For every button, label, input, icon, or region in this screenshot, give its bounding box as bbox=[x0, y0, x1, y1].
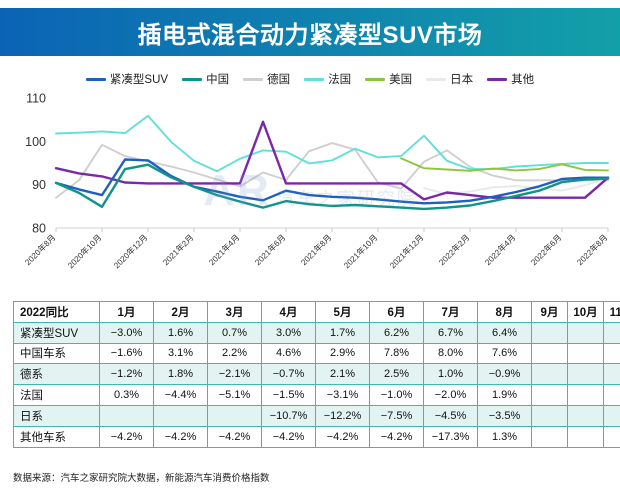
table-cell: 2.9% bbox=[316, 343, 370, 364]
table-cell: 2.1% bbox=[316, 364, 370, 385]
table-cell: −12.2% bbox=[316, 405, 370, 426]
legend-item-7[interactable]: 其他 bbox=[487, 71, 534, 87]
table-cell: 1.8% bbox=[154, 364, 208, 385]
table-cell bbox=[604, 364, 620, 385]
table-cell: 6.7% bbox=[424, 322, 478, 343]
table-cell: 1.6% bbox=[154, 322, 208, 343]
legend-item-5[interactable]: 美国 bbox=[365, 71, 412, 87]
table-cell: 1.3% bbox=[478, 426, 532, 447]
line-chart-svg: 80901001102020年8月2020年10月2020年12月2021年2月… bbox=[0, 88, 620, 293]
legend-label: 其他 bbox=[511, 71, 534, 87]
table-body: 紧凑型SUV−3.0%1.6%0.7%3.0%1.7%6.2%6.7%6.4%中… bbox=[14, 322, 620, 447]
table-cell: −0.9% bbox=[478, 364, 532, 385]
table-cell: −5.1% bbox=[208, 385, 262, 406]
table-cell: 3.1% bbox=[154, 343, 208, 364]
legend-label: 日本 bbox=[450, 71, 473, 87]
table-cell bbox=[532, 364, 568, 385]
table-cell: 6.2% bbox=[370, 322, 424, 343]
table-cell: −3.1% bbox=[316, 385, 370, 406]
header-banner: 插电式混合动力紧凑型SUV市场 bbox=[0, 8, 620, 56]
table-row: 其他车系−4.2%−4.2%−4.2%−4.2%−4.2%−4.2%−17.3%… bbox=[14, 426, 620, 447]
x-tick-label: 2022年4月 bbox=[483, 232, 518, 267]
table-col-header: 7月 bbox=[424, 302, 478, 323]
table-cell: −0.7% bbox=[262, 364, 316, 385]
table-cell: −4.4% bbox=[154, 385, 208, 406]
legend-swatch-icon bbox=[304, 78, 324, 81]
x-tick-label: 2022年6月 bbox=[529, 232, 564, 267]
table-col-header: 8月 bbox=[478, 302, 532, 323]
x-tick-label: 2021年10月 bbox=[341, 232, 379, 270]
legend-item-2[interactable]: 中国 bbox=[182, 71, 229, 87]
table-cell: −1.0% bbox=[370, 385, 424, 406]
legend-swatch-icon bbox=[86, 78, 106, 81]
legend-label: 法国 bbox=[328, 71, 351, 87]
table-cell bbox=[568, 426, 604, 447]
table-cell: −4.2% bbox=[100, 426, 154, 447]
table-cell bbox=[604, 322, 620, 343]
table-cell bbox=[604, 426, 620, 447]
table-row-label: 其他车系 bbox=[14, 426, 100, 447]
source-note: 数据来源：汽车之家研究院大数据，新能源汽车消费价格指数 bbox=[13, 470, 270, 484]
table-cell: 7.8% bbox=[370, 343, 424, 364]
table-cell: 0.3% bbox=[100, 385, 154, 406]
y-tick-label: 80 bbox=[32, 222, 46, 236]
table-row: 中国车系−1.6%3.1%2.2%4.6%2.9%7.8%8.0%7.6% bbox=[14, 343, 620, 364]
table-col-header: 2022同比 bbox=[14, 302, 100, 323]
x-tick-label: 2021年8月 bbox=[299, 232, 334, 267]
table-col-header: 10月 bbox=[568, 302, 604, 323]
table-cell: 3.0% bbox=[262, 322, 316, 343]
table-cell: 2.5% bbox=[370, 364, 424, 385]
table-col-header: 4月 bbox=[262, 302, 316, 323]
table-cell: −4.2% bbox=[316, 426, 370, 447]
legend-label: 紧凑型SUV bbox=[110, 71, 168, 87]
table-cell: −1.5% bbox=[262, 385, 316, 406]
x-tick-label: 2021年6月 bbox=[253, 232, 288, 267]
y-tick-label: 90 bbox=[32, 178, 46, 192]
table-cell: −2.1% bbox=[208, 364, 262, 385]
legend-swatch-icon bbox=[243, 78, 263, 81]
table-cell bbox=[154, 405, 208, 426]
y-tick-label: 100 bbox=[25, 135, 46, 149]
table-cell bbox=[568, 405, 604, 426]
table-row-label: 紧凑型SUV bbox=[14, 322, 100, 343]
table-col-header: 9月 bbox=[532, 302, 568, 323]
table-cell bbox=[532, 385, 568, 406]
table-cell: −1.6% bbox=[100, 343, 154, 364]
table-col-header: 2月 bbox=[154, 302, 208, 323]
comparison-table-wrap: 2022同比1月2月3月4月5月6月7月8月9月10月11月12月 紧凑型SUV… bbox=[13, 301, 607, 448]
table-cell bbox=[532, 322, 568, 343]
table-row: 德系−1.2%1.8%−2.1%−0.7%2.1%2.5%1.0%−0.9% bbox=[14, 364, 620, 385]
table-cell bbox=[604, 405, 620, 426]
table-cell: −2.0% bbox=[424, 385, 478, 406]
table-cell: −17.3% bbox=[424, 426, 478, 447]
table-cell: −4.2% bbox=[262, 426, 316, 447]
table-cell: 0.7% bbox=[208, 322, 262, 343]
table-col-header: 5月 bbox=[316, 302, 370, 323]
table-cell: −7.5% bbox=[370, 405, 424, 426]
table-cell: −4.5% bbox=[424, 405, 478, 426]
x-tick-label: 2020年12月 bbox=[111, 232, 149, 270]
table-cell: 8.0% bbox=[424, 343, 478, 364]
table-row-label: 日系 bbox=[14, 405, 100, 426]
y-tick-label: 110 bbox=[26, 92, 46, 106]
table-cell: 6.4% bbox=[478, 322, 532, 343]
chart-plot-area: 80901001102020年8月2020年10月2020年12月2021年2月… bbox=[0, 88, 620, 293]
table-cell bbox=[532, 405, 568, 426]
table-cell bbox=[568, 322, 604, 343]
table-cell: 1.9% bbox=[478, 385, 532, 406]
legend-swatch-icon bbox=[487, 78, 507, 81]
table-cell bbox=[208, 405, 262, 426]
table-row: 法国0.3%−4.4%−5.1%−1.5%−3.1%−1.0%−2.0%1.9% bbox=[14, 385, 620, 406]
table-cell bbox=[100, 405, 154, 426]
legend-item-1[interactable]: 紧凑型SUV bbox=[86, 71, 168, 87]
table-row-label: 中国车系 bbox=[14, 343, 100, 364]
table-row-label: 法国 bbox=[14, 385, 100, 406]
table-col-header: 11月 bbox=[604, 302, 620, 323]
table-cell: 7.6% bbox=[478, 343, 532, 364]
table-row: 日系−10.7%−12.2%−7.5%−4.5%−3.5% bbox=[14, 405, 620, 426]
x-tick-label: 2021年2月 bbox=[161, 232, 196, 267]
legend-item-4[interactable]: 法国 bbox=[304, 71, 351, 87]
page-title: 插电式混合动力紧凑型SUV市场 bbox=[138, 15, 483, 50]
table-row-label: 德系 bbox=[14, 364, 100, 385]
table-cell: −3.0% bbox=[100, 322, 154, 343]
table-cell bbox=[604, 343, 620, 364]
yoy-comparison-table: 2022同比1月2月3月4月5月6月7月8月9月10月11月12月 紧凑型SUV… bbox=[13, 301, 620, 448]
legend-label: 美国 bbox=[389, 71, 412, 87]
chart-legend: 紧凑型SUV中国德国法国美国日本其他 bbox=[0, 68, 620, 90]
table-cell bbox=[568, 364, 604, 385]
series-line-5 bbox=[401, 158, 608, 171]
x-tick-label: 2020年10月 bbox=[65, 232, 103, 270]
legend-label: 德国 bbox=[267, 71, 290, 87]
table-cell: −4.2% bbox=[208, 426, 262, 447]
table-cell: 4.6% bbox=[262, 343, 316, 364]
table-col-header: 3月 bbox=[208, 302, 262, 323]
x-tick-label: 2021年4月 bbox=[207, 232, 242, 267]
table-cell: 1.7% bbox=[316, 322, 370, 343]
table-cell: −4.2% bbox=[154, 426, 208, 447]
x-tick-label: 2022年8月 bbox=[575, 232, 610, 267]
table-cell bbox=[532, 343, 568, 364]
table-header-row: 2022同比1月2月3月4月5月6月7月8月9月10月11月12月 bbox=[14, 302, 620, 323]
legend-item-3[interactable]: 德国 bbox=[243, 71, 290, 87]
table-cell: −3.5% bbox=[478, 405, 532, 426]
table-cell: −1.2% bbox=[100, 364, 154, 385]
legend-item-6[interactable]: 日本 bbox=[426, 71, 473, 87]
x-tick-label: 2021年12月 bbox=[387, 232, 425, 270]
table-cell bbox=[604, 385, 620, 406]
legend-swatch-icon bbox=[365, 78, 385, 81]
table-cell: 1.0% bbox=[424, 364, 478, 385]
table-cell: −10.7% bbox=[262, 405, 316, 426]
table-cell bbox=[568, 385, 604, 406]
legend-label: 中国 bbox=[206, 71, 229, 87]
table-cell: 2.2% bbox=[208, 343, 262, 364]
table-cell bbox=[532, 426, 568, 447]
x-tick-label: 2020年8月 bbox=[23, 232, 58, 267]
table-col-header: 1月 bbox=[100, 302, 154, 323]
x-tick-label: 2022年2月 bbox=[437, 232, 472, 267]
table-row: 紧凑型SUV−3.0%1.6%0.7%3.0%1.7%6.2%6.7%6.4% bbox=[14, 322, 620, 343]
table-col-header: 6月 bbox=[370, 302, 424, 323]
table-cell: −4.2% bbox=[370, 426, 424, 447]
legend-swatch-icon bbox=[182, 78, 202, 81]
table-cell bbox=[568, 343, 604, 364]
legend-swatch-icon bbox=[426, 78, 446, 81]
